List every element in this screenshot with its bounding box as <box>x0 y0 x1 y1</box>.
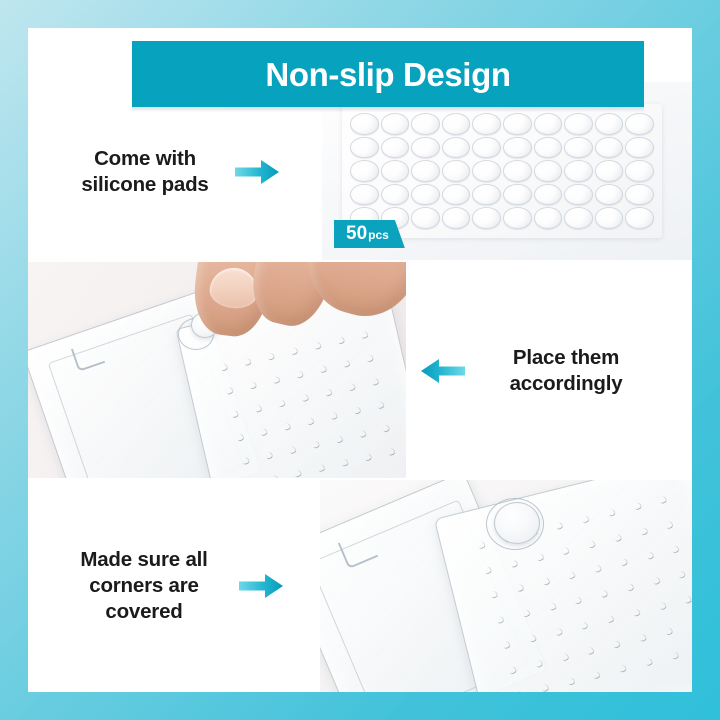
silicone-pad <box>534 184 563 206</box>
caption-place-them: Place them accordingly <box>480 345 652 397</box>
silicone-pad <box>564 184 593 206</box>
silicone-pad <box>564 160 593 182</box>
arrow-right-icon <box>234 157 280 187</box>
silicone-pad <box>625 184 654 206</box>
silicone-pad <box>350 184 379 206</box>
tray-corner-scene <box>318 480 692 692</box>
hand-tray-scene <box>28 262 406 480</box>
silicone-pad <box>564 137 593 159</box>
caption-corners-covered: Made sure all corners are covered <box>64 547 224 625</box>
silicone-pad <box>350 113 379 135</box>
silicone-pad <box>381 184 410 206</box>
photo-hand-placing-pad <box>28 262 406 480</box>
silicone-pad <box>442 207 471 229</box>
photo-tray-corner-closeup <box>318 480 692 692</box>
photo-silicone-pad-sheet: 50 pcs <box>320 82 692 262</box>
silicone-pad <box>595 207 624 229</box>
caption-cell-corners-covered: Made sure all corners are covered <box>28 480 318 692</box>
section-place-them: Place them accordingly <box>28 262 692 480</box>
divider-horizontal-row2-top <box>28 260 692 262</box>
silicone-pad <box>411 160 440 182</box>
silicone-pad <box>350 137 379 159</box>
silicone-pad <box>534 113 563 135</box>
silicone-pad <box>411 207 440 229</box>
silicone-pad <box>595 184 624 206</box>
caption-cell-place-them: Place them accordingly <box>406 262 692 480</box>
silicone-pad-attached <box>494 502 540 544</box>
silicone-pad <box>442 137 471 159</box>
silicone-pad <box>503 113 532 135</box>
silicone-pad <box>625 113 654 135</box>
badge-unit: pcs <box>368 228 389 242</box>
silicone-pad <box>503 160 532 182</box>
infographic-page: Come with silicone pads <box>0 0 720 720</box>
silicone-pad <box>472 160 501 182</box>
silicone-pad <box>442 113 471 135</box>
silicone-pad-sheet <box>342 104 662 238</box>
silicone-pad <box>411 113 440 135</box>
section-corners-covered: Made sure all corners are covered <box>28 480 692 692</box>
badge-count: 50 <box>346 220 367 248</box>
silicone-pad <box>595 113 624 135</box>
silicone-pad <box>595 160 624 182</box>
divider-vertical-row3 <box>318 480 320 692</box>
caption-silicone-pads: Come with silicone pads <box>70 146 220 198</box>
silicone-pad <box>564 207 593 229</box>
silicone-pad <box>564 113 593 135</box>
silicone-pad <box>381 160 410 182</box>
silicone-pad <box>350 160 379 182</box>
silicone-pad <box>472 184 501 206</box>
silicone-pad <box>472 207 501 229</box>
arrow-right-icon <box>238 571 284 601</box>
silicone-pad <box>503 184 532 206</box>
silicone-pad <box>411 184 440 206</box>
silicone-pad <box>381 137 410 159</box>
page-title: Non-slip Design <box>265 58 510 91</box>
silicone-pad <box>442 184 471 206</box>
silicone-pad <box>503 207 532 229</box>
silicone-pad <box>503 137 532 159</box>
silicone-pad <box>442 160 471 182</box>
section-silicone-pads: Come with silicone pads <box>28 82 692 262</box>
content-canvas: Come with silicone pads <box>28 28 692 692</box>
silicone-pad <box>595 137 624 159</box>
silicone-pad <box>411 137 440 159</box>
silicone-pad <box>381 113 410 135</box>
divider-horizontal-row3-top <box>28 478 692 480</box>
silicone-pad <box>625 207 654 229</box>
silicone-pad <box>625 160 654 182</box>
divider-vertical-row1 <box>320 82 322 262</box>
silicone-pad <box>534 160 563 182</box>
silicone-pad <box>472 137 501 159</box>
title-banner: Non-slip Design <box>132 41 644 107</box>
silicone-pad <box>625 137 654 159</box>
arrow-left-icon <box>420 356 466 386</box>
silicone-pad <box>534 207 563 229</box>
caption-cell-silicone-pads: Come with silicone pads <box>28 82 320 262</box>
silicone-pad <box>472 113 501 135</box>
silicone-pad <box>534 137 563 159</box>
status-badge-quantity: 50 pcs <box>334 220 405 248</box>
